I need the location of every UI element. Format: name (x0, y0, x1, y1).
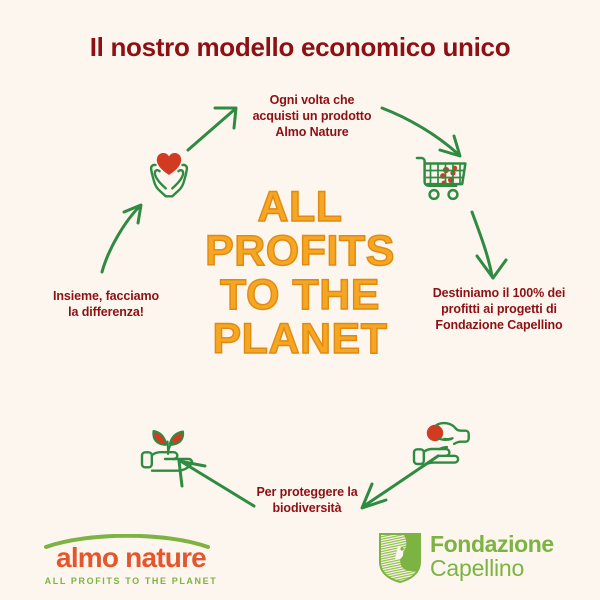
arrow-top-left-segment-icon (184, 98, 246, 154)
step-caption-profits: Destiniamo il 100% dei profitti ai proge… (404, 285, 594, 333)
fondazione-capellino-logo: Fondazione Capellino (378, 530, 578, 590)
arrow-right-segment-icon (458, 206, 528, 284)
caption-purchase-line-1: Ogni volta che (222, 92, 402, 108)
caption-together-line-2: la differenza! (16, 304, 196, 320)
fondazione-shield-face-icon (378, 532, 422, 584)
caption-purchase-line-3: Almo Nature (222, 124, 402, 140)
caption-together-line-1: Insieme, facciamo (16, 288, 196, 304)
caption-purchase-line-2: acquisti un prodotto (222, 108, 402, 124)
almo-nature-wordmark: almo nature (36, 542, 226, 574)
arrow-top-right-segment-icon (378, 100, 478, 162)
fondazione-wordmark-line-1: Fondazione (430, 532, 580, 556)
step-caption-purchase: Ogni volta che acquisti un prodotto Almo… (222, 92, 402, 140)
arrow-up-left-segment-icon (88, 200, 154, 276)
infographic-canvas: Il nostro modello economico unico ALL PR… (0, 0, 600, 600)
arrow-bottom-left-segment-icon (168, 452, 260, 518)
caption-profits-line-2: profitti ai progetti di (404, 301, 594, 317)
arrow-bottom-right-segment-icon (352, 450, 444, 518)
step-caption-together: Insieme, facciamo la differenza! (16, 288, 196, 320)
caption-profits-line-1: Destiniamo il 100% dei (404, 285, 594, 301)
fondazione-wordmark-line-2: Capellino (430, 556, 580, 580)
headline-line-1: ALL (180, 186, 420, 230)
page-title: Il nostro modello economico unico (0, 32, 600, 63)
fondazione-capellino-wordmark: Fondazione Capellino (430, 532, 580, 581)
headline-line-3: TO THE (180, 274, 420, 318)
caption-profits-line-3: Fondazione Capellino (404, 317, 594, 333)
headline-line-4: PLANET (180, 318, 420, 362)
center-headline: ALL PROFITS TO THE PLANET (180, 186, 420, 361)
headline-line-2: PROFITS (180, 230, 420, 274)
almo-nature-logo: almo nature ALL PROFITS TO THE PLANET (36, 534, 226, 590)
almo-nature-tagline: ALL PROFITS TO THE PLANET (36, 576, 226, 586)
